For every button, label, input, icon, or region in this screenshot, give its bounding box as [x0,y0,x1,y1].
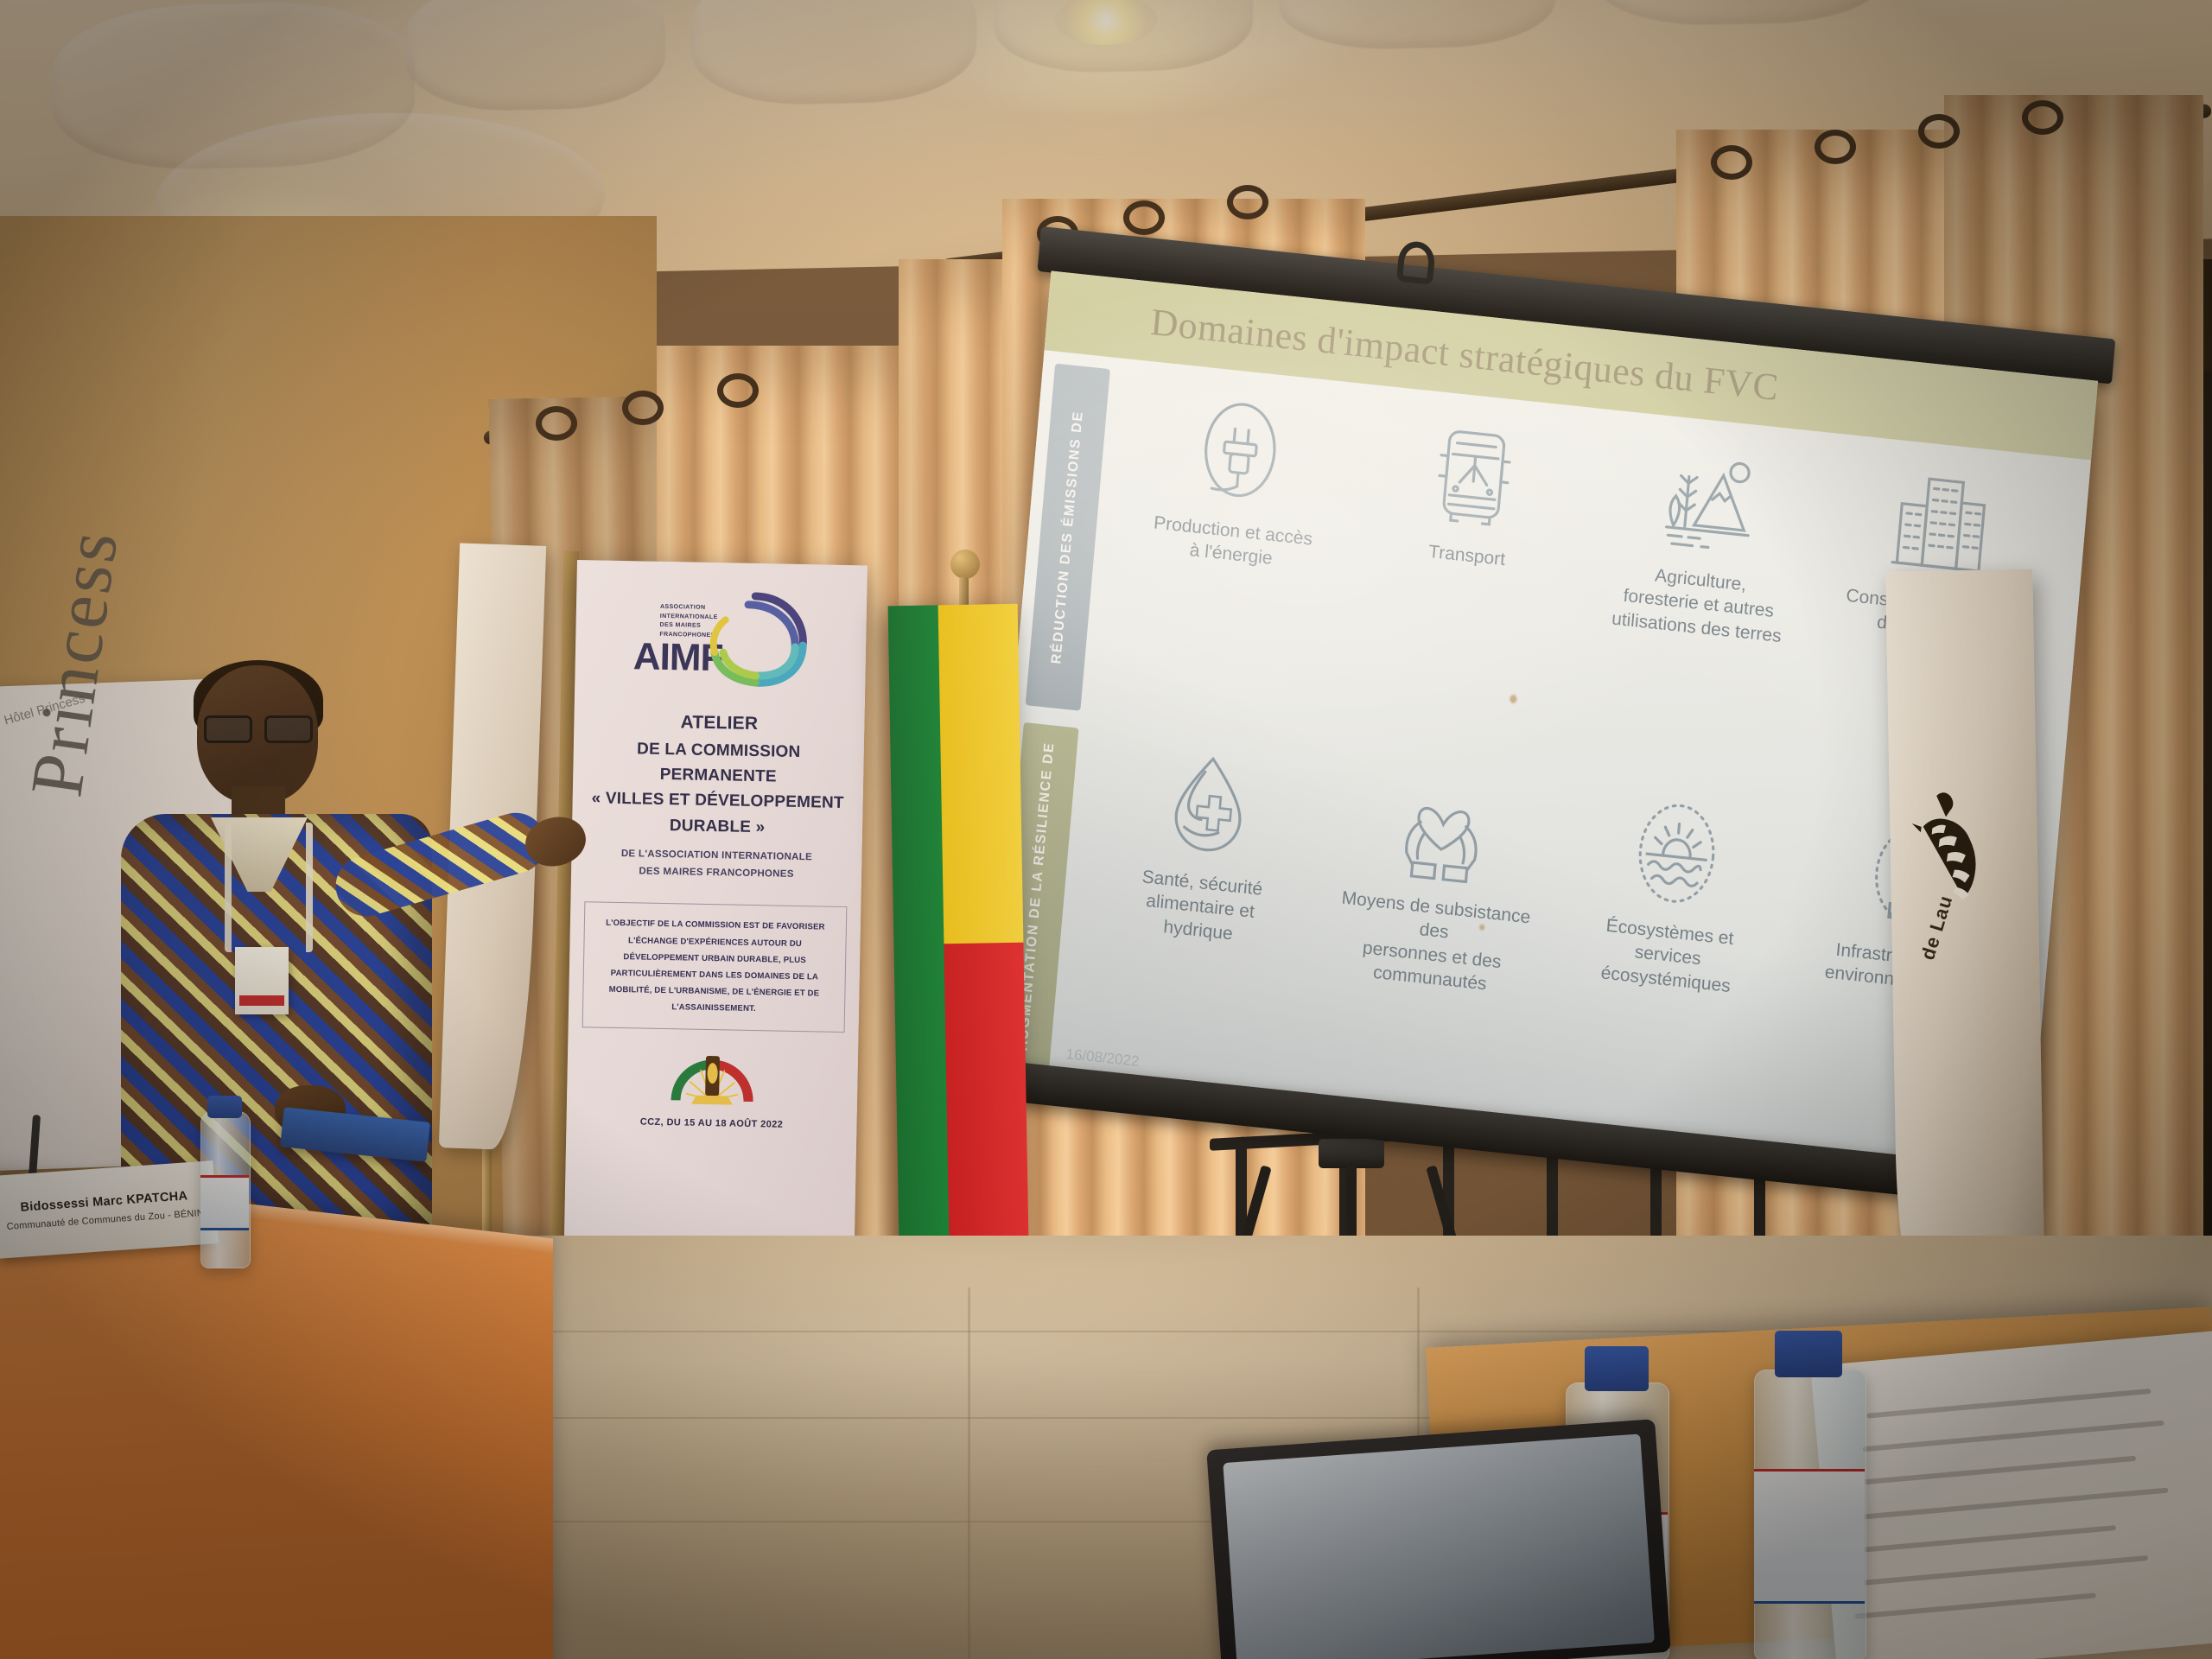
agriculture-forestry-icon [1646,439,1770,564]
slide-caption-ecosystems: Écosystèmes et servicesécosystémiques [1566,910,1770,1001]
banner-title-line2: DE LA COMMISSION PERMANENTE [582,735,855,791]
bottle-label-left [200,1175,249,1230]
curtain-grommet [1711,145,1752,180]
laptop-screen[interactable] [1223,1433,1655,1659]
slide-cell-livelihoods: Moyens de subsistance despersonnes et de… [1317,760,1560,1002]
slide-caption-agriculture: Agriculture,foresterie et autresutilisat… [1611,560,1786,648]
laptop[interactable] [1206,1419,1671,1659]
slide-caption-transport: Transport [1427,540,1506,572]
curtain-grommet [1918,114,1960,149]
benin-flag-yellow [938,604,1024,944]
banner-subtitle-line2: DES MAIRES FRANCOPHONES [620,863,812,884]
slide-cell-health: Santé, sécuritéalimentaire ethydrique [1085,735,1326,953]
aimf-logo: ASSOCIATIONINTERNATIONALEDES MAIRESFRANC… [629,583,812,689]
curtain-grommet [1815,130,1856,164]
presenter-badge [235,947,289,1014]
benin-municipality-emblem-icon [667,1043,758,1109]
curtain-grommet [622,391,664,425]
slide-cell-energy: Production et accèsà l'énergie [1118,384,1357,578]
plug-energy-icon [1179,390,1302,515]
bus-transport-icon [1412,414,1535,539]
banner-title: ATELIER DE LA COMMISSION PERMANENTE « VI… [572,707,865,842]
curtain-grommet [536,406,577,441]
curtain-grommet [1123,200,1165,235]
curtain-grommet [717,373,759,408]
banner-title-line3: « VILLES ET DÉVELOPPEMENT [581,786,855,817]
banner-objective-box: L'OBJECTIF DE LA COMMISSION EST DE FAVOR… [582,902,848,1033]
flagpole-finial [950,550,980,579]
banner-subtitle: DE L'ASSOCIATION INTERNATIONALE DES MAIR… [620,846,812,883]
bottle-cap-left [207,1096,242,1118]
banner-event-date: CCZ, DU 15 AU 18 AOÛT 2022 [640,1116,784,1129]
hotel-flag-body [1885,569,2046,1350]
name-card: Bidossessi Marc KPATCHA Communauté de Co… [0,1160,219,1259]
aimf-swoosh-icon [705,590,810,689]
curtain-grommet [1227,185,1268,219]
sunrise-water-icon [1615,791,1738,916]
benin-flag [888,604,1031,1340]
slide-caption-livelihoods: Moyens de subsistance despersonnes et de… [1330,886,1535,1001]
printed-documents [1810,1331,2212,1659]
hotel-flag: de Lau [1885,569,2046,1350]
bottle-label-front-right [1754,1469,1865,1604]
hands-heart-icon [1382,766,1505,892]
slide-cell-ecosystems: Écosystèmes et servicesécosystémiques [1553,785,1794,1002]
slide-cell-transport: Transport [1354,408,1592,579]
bottle-cap-front-right [1775,1331,1842,1377]
curtain-grommet [2022,100,2063,135]
benin-flag-red [944,943,1029,1280]
slide-caption-health: Santé, sécuritéalimentaire ethydrique [1137,865,1263,948]
bottle-cap-front-left [1585,1346,1649,1391]
water-health-icon [1147,741,1271,867]
banner-title-line4: DURABLE » [581,811,855,842]
rail-label-reduction: RÉDUCTION DES ÉMISSIONS DE [1047,410,1088,664]
eyeglasses-icon [204,715,313,738]
slide-cell-agriculture: Agriculture,foresterie et autresutilisat… [1583,433,1824,651]
conference-room-photo: Domaines d'impact stratégiques du FVC RÉ… [0,0,2212,1659]
presenter-lanyard [225,823,313,952]
slide-caption-energy: Production et accèsà l'énergie [1151,512,1313,575]
